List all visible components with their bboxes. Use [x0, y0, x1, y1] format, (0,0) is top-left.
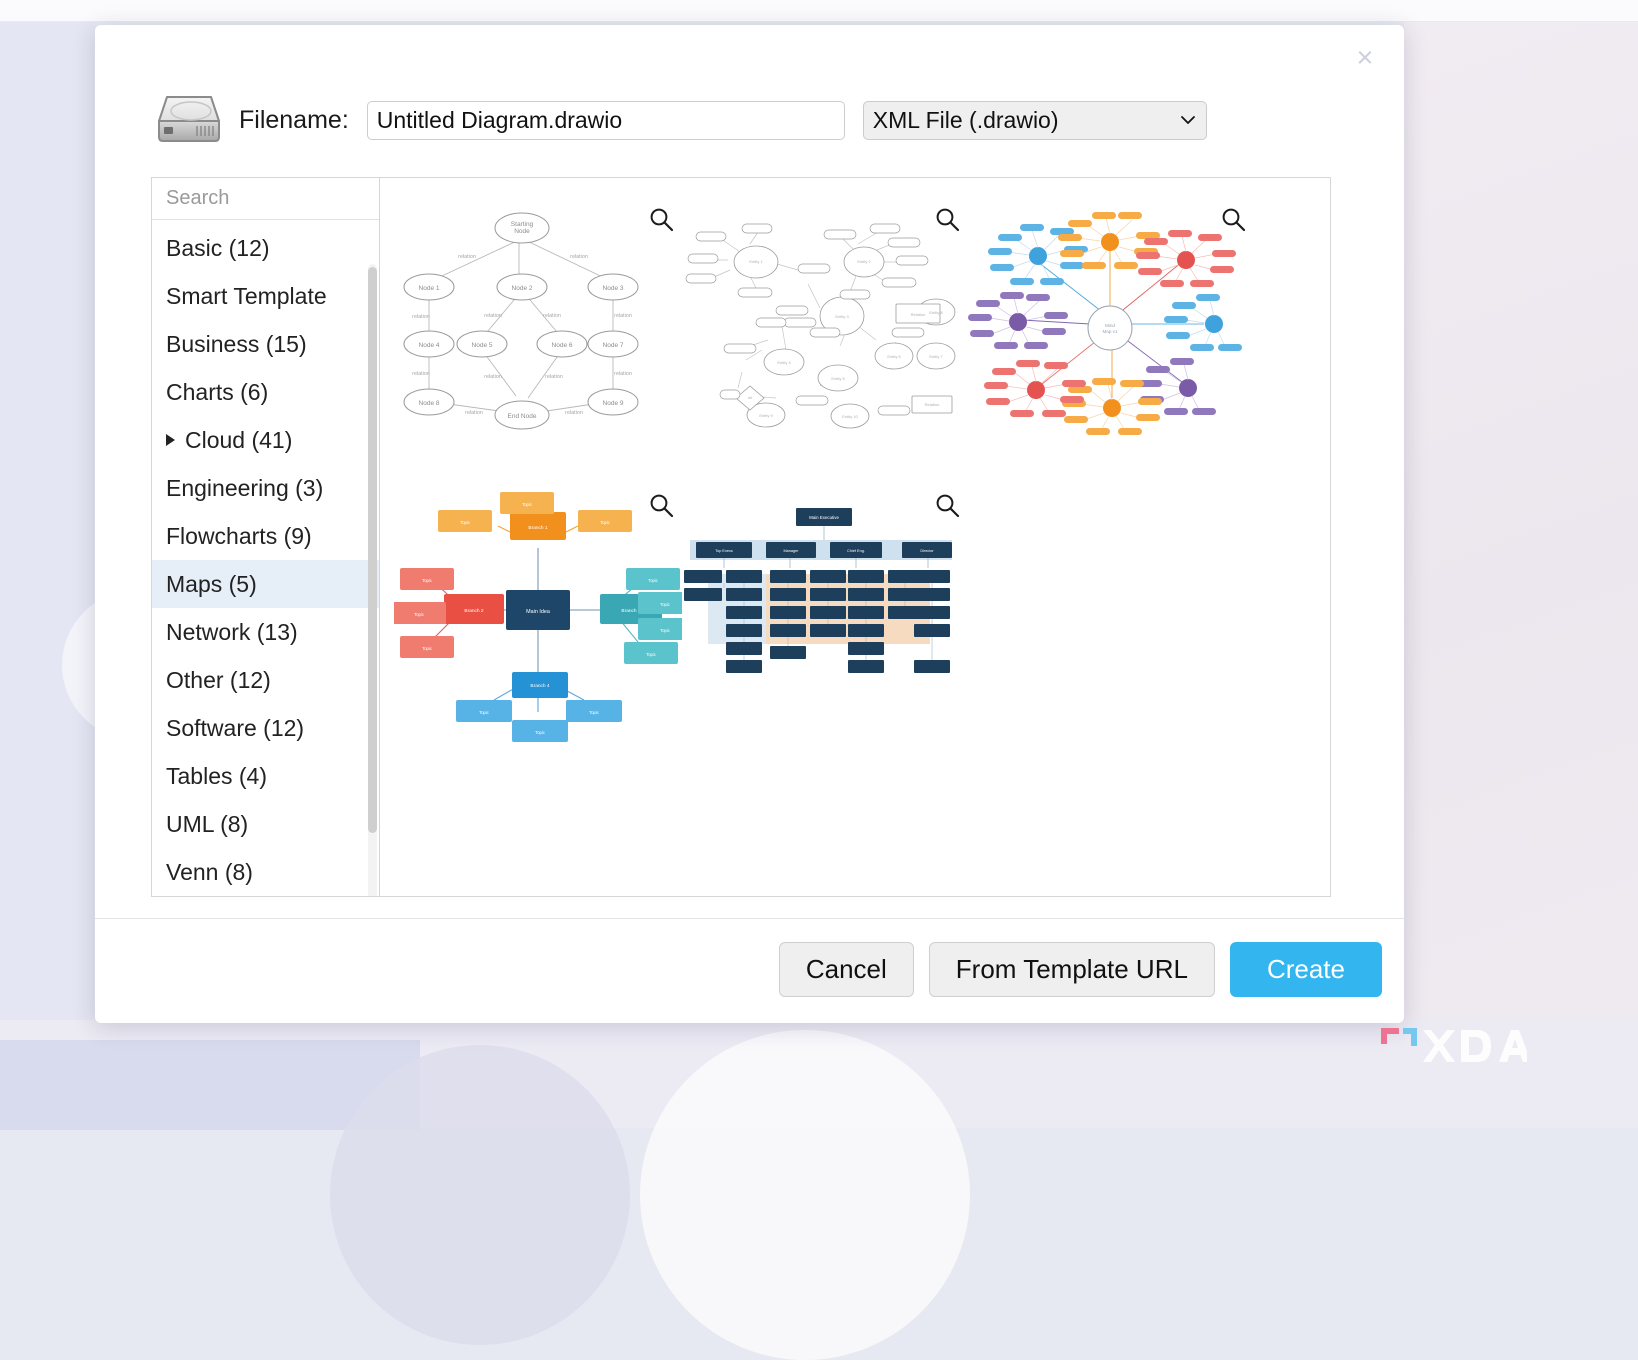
desktop-right-backdrop — [1404, 22, 1638, 1128]
svg-text:Node 6: Node 6 — [552, 342, 573, 349]
svg-text:Chief Eng.: Chief Eng. — [847, 549, 865, 553]
category-item-label: UML (8) — [166, 811, 248, 838]
svg-text:Node 3: Node 3 — [603, 285, 624, 292]
svg-text:Node 1: Node 1 — [419, 285, 440, 292]
category-item-label: Smart Template — [166, 283, 327, 310]
category-item-uml-8[interactable]: UML (8) — [152, 800, 379, 848]
svg-text:Node 2: Node 2 — [512, 285, 533, 292]
svg-text:Entity 4: Entity 4 — [777, 360, 791, 365]
svg-text:Branch 2: Branch 2 — [464, 608, 484, 614]
svg-text:Entity 3: Entity 3 — [835, 314, 849, 319]
svg-text:Entity 10: Entity 10 — [842, 414, 858, 419]
svg-text:Entity 7: Entity 7 — [929, 354, 943, 359]
category-item-software-12[interactable]: Software (12) — [152, 704, 379, 752]
svg-text:Node 9: Node 9 — [603, 400, 624, 407]
svg-text:Main Idea: Main Idea — [526, 609, 550, 615]
svg-text:Topic: Topic — [460, 520, 470, 525]
dialog-footer: Cancel From Template URL Create — [779, 942, 1382, 997]
svg-text:End Node: End Node — [508, 413, 537, 420]
category-item-flowcharts-9[interactable]: Flowcharts (9) — [152, 512, 379, 560]
chevron-down-icon — [1179, 111, 1197, 129]
radial-mindmap-template[interactable]: Mind Map v1 — [966, 200, 1254, 470]
svg-text:Node: Node — [514, 228, 530, 235]
filename-label: Filename: — [239, 106, 349, 135]
svg-text:Topic: Topic — [600, 520, 610, 525]
expand-arrow-icon[interactable] — [166, 434, 175, 446]
svg-text:relation: relation — [484, 313, 502, 319]
footer-divider — [95, 918, 1404, 919]
category-item-other-12[interactable]: Other (12) — [152, 656, 379, 704]
filename-input[interactable] — [367, 101, 845, 140]
svg-text:Entity 6: Entity 6 — [887, 354, 901, 359]
category-sidebar: Basic (12)Smart TemplateBusiness (15)Cha… — [152, 178, 380, 896]
cancel-button[interactable]: Cancel — [779, 942, 914, 997]
svg-text:Entity 5: Entity 5 — [831, 376, 845, 381]
svg-text:Relation: Relation — [925, 402, 940, 407]
magnifier-icon[interactable] — [648, 206, 674, 232]
magnifier-icon[interactable] — [1220, 206, 1246, 232]
category-list[interactable]: Basic (12)Smart TemplateBusiness (15)Cha… — [152, 220, 379, 896]
desktop-top-strip — [0, 0, 1638, 22]
category-item-label: Basic (12) — [166, 235, 270, 262]
org-chart-template[interactable]: Main Executive Top Execs Manager Chief E… — [680, 486, 968, 756]
svg-text:Relation: Relation — [911, 312, 926, 317]
category-item-label: Charts (6) — [166, 379, 268, 406]
category-item-venn-8[interactable]: Venn (8) — [152, 848, 379, 896]
desktop-left-backdrop — [0, 22, 95, 1128]
svg-text:Topic: Topic — [422, 578, 432, 583]
svg-text:rel: rel — [748, 395, 753, 400]
colored-mindmap-template[interactable]: Main Idea Branch 1 Branch 2 Branch 3 Bra… — [394, 486, 682, 756]
hard-drive-icon — [153, 91, 225, 149]
close-icon[interactable]: × — [1348, 41, 1382, 75]
svg-text:Topic: Topic — [646, 652, 656, 657]
svg-text:Node 5: Node 5 — [472, 342, 493, 349]
category-item-label: Venn (8) — [166, 859, 253, 886]
filetype-select[interactable]: XML File (.drawio) — [863, 101, 1207, 140]
category-item-network-13[interactable]: Network (13) — [152, 608, 379, 656]
svg-text:Starting: Starting — [511, 221, 534, 228]
svg-text:relation: relation — [614, 371, 632, 377]
colored-mindmap-thumbnail: Main Idea Branch 1 Branch 2 Branch 3 Bra… — [394, 486, 682, 756]
org-chart-thumbnail: Main Executive Top Execs Manager Chief E… — [680, 486, 968, 756]
wallpaper-circle-b — [330, 1045, 630, 1345]
svg-text:relation: relation — [465, 410, 483, 416]
category-item-charts-6[interactable]: Charts (6) — [152, 368, 379, 416]
svg-text:relation: relation — [545, 374, 563, 380]
svg-text:Branch 4: Branch 4 — [530, 683, 550, 689]
svg-text:Entity 2: Entity 2 — [857, 259, 871, 264]
er-diagram-thumbnail: Entity 1Entity 2 Entity 3Entity 4 Entity… — [680, 200, 968, 470]
svg-text:Topic: Topic — [414, 612, 424, 617]
svg-text:relation: relation — [458, 254, 476, 260]
svg-text:relation: relation — [412, 314, 430, 320]
category-item-tables-4[interactable]: Tables (4) — [152, 752, 379, 800]
svg-text:Topic: Topic — [660, 628, 670, 633]
svg-text:Node 7: Node 7 — [603, 342, 624, 349]
svg-text:Top Execs: Top Execs — [715, 549, 733, 553]
node-graph-template[interactable]: StartingNode Node 1Node 2Node 3 Node 4No… — [394, 200, 682, 470]
category-item-label: Tables (4) — [166, 763, 267, 790]
svg-text:Topic: Topic — [648, 578, 658, 583]
new-diagram-dialog: × Filename: XML File ( — [95, 25, 1404, 1023]
from-template-url-button[interactable]: From Template URL — [929, 942, 1215, 997]
svg-text:Mind: Mind — [1105, 323, 1115, 328]
svg-text:relation: relation — [570, 254, 588, 260]
filename-row: Filename: XML File (.drawio) — [153, 85, 1207, 155]
category-item-label: Network (13) — [166, 619, 298, 646]
svg-text:Topic: Topic — [660, 602, 670, 607]
category-item-maps-5[interactable]: Maps (5) — [152, 560, 379, 608]
svg-text:relation: relation — [614, 313, 632, 319]
svg-text:relation: relation — [484, 374, 502, 380]
svg-text:Branch 1: Branch 1 — [528, 525, 548, 531]
create-button[interactable]: Create — [1230, 942, 1382, 997]
filetype-selected-label: XML File (.drawio) — [873, 107, 1173, 134]
category-item-label: Cloud (41) — [185, 427, 292, 454]
category-scrollbar-thumb[interactable] — [368, 267, 377, 833]
category-item-engineering-3[interactable]: Engineering (3) — [152, 464, 379, 512]
category-item-label: Flowcharts (9) — [166, 523, 312, 550]
search-bar[interactable] — [152, 178, 379, 220]
magnifier-icon[interactable] — [934, 492, 960, 518]
svg-text:Node 4: Node 4 — [419, 342, 440, 349]
category-item-basic-12[interactable]: Basic (12) — [152, 224, 379, 272]
xda-watermark — [1377, 1022, 1527, 1070]
svg-text:Manager: Manager — [784, 549, 800, 553]
category-item-label: Engineering (3) — [166, 475, 323, 502]
category-item-label: Other (12) — [166, 667, 271, 694]
category-item-label: Software (12) — [166, 715, 304, 742]
node-graph-thumbnail: StartingNode Node 1Node 2Node 3 Node 4No… — [394, 200, 682, 470]
svg-text:Topic: Topic — [422, 646, 432, 651]
magnifier-icon[interactable] — [934, 206, 960, 232]
svg-text:Map v1: Map v1 — [1102, 329, 1118, 334]
svg-text:relation: relation — [412, 371, 430, 377]
xda-logo-icon — [1377, 1022, 1527, 1070]
svg-text:Topic: Topic — [479, 710, 489, 715]
svg-text:Director: Director — [920, 549, 934, 553]
template-grid: StartingNode Node 1Node 2Node 3 Node 4No… — [380, 178, 1330, 896]
svg-text:relation: relation — [565, 410, 583, 416]
svg-text:Entity 1: Entity 1 — [749, 259, 763, 264]
category-item-smart-template[interactable]: Smart Template — [152, 272, 379, 320]
svg-text:Topic: Topic — [535, 730, 545, 735]
svg-text:Topic: Topic — [522, 502, 532, 507]
wallpaper-circle-a — [640, 1030, 970, 1360]
radial-mindmap-thumbnail: Mind Map v1 — [966, 200, 1254, 470]
svg-text:Node 8: Node 8 — [419, 400, 440, 407]
svg-text:Entity 8: Entity 8 — [929, 310, 943, 315]
svg-text:Topic: Topic — [589, 710, 599, 715]
svg-text:relation: relation — [543, 313, 561, 319]
category-item-business-15[interactable]: Business (15) — [152, 320, 379, 368]
svg-text:Entity 9: Entity 9 — [759, 413, 773, 418]
magnifier-icon[interactable] — [648, 492, 674, 518]
er-diagram-template[interactable]: Entity 1Entity 2 Entity 3Entity 4 Entity… — [680, 200, 968, 470]
template-browser: Basic (12)Smart TemplateBusiness (15)Cha… — [151, 177, 1331, 897]
svg-text:Main Executive: Main Executive — [809, 515, 839, 520]
category-item-label: Business (15) — [166, 331, 307, 358]
category-item-label: Maps (5) — [166, 571, 257, 598]
category-item-cloud-41[interactable]: Cloud (41) — [152, 416, 379, 464]
